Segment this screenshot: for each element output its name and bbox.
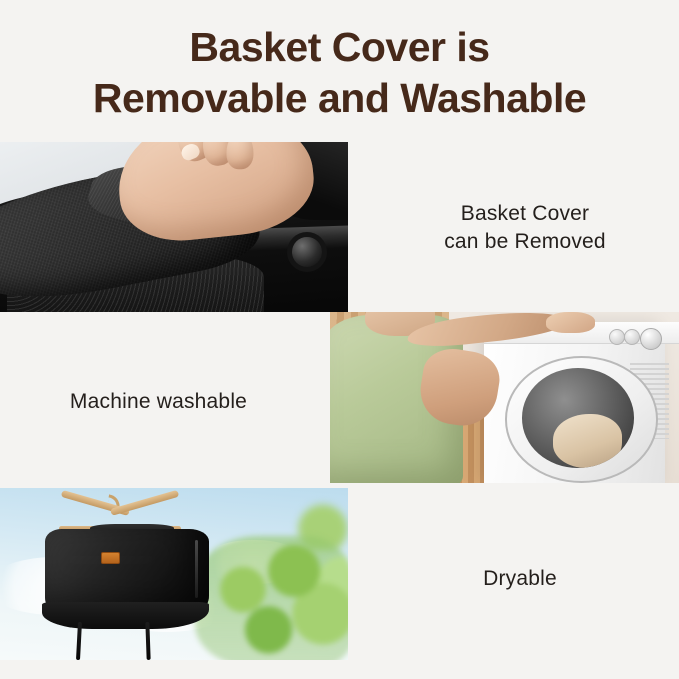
finger-ring [227,142,254,168]
person-hand-on-controls [546,312,595,333]
photo-basket-cover-removal [0,142,348,312]
leather-brand-label [101,552,120,564]
caption-basket-cover-removed: Basket Cover can be Removed [380,200,670,256]
cover-bottom-skirt [42,602,209,630]
control-knob-1 [609,329,625,345]
product-infographic: Basket Cover is Removable and Washable B… [0,0,679,679]
laundry-scene [330,312,679,483]
caption-removed-line-1: Basket Cover [380,200,670,228]
laundry-pile-light [553,414,622,468]
outdoor-scene [0,488,348,660]
cover-zipper [195,540,198,598]
caption-dryable: Dryable [400,565,640,593]
program-dial [640,328,662,350]
caption-machine-washable: Machine washable [16,388,301,416]
photo-machine-washing [330,312,679,483]
tree-foliage [195,536,348,660]
photo-drying-on-hanger [0,488,348,660]
velcro-scene [0,142,348,312]
control-knob-2 [624,329,640,345]
page-title: Basket Cover is Removable and Washable [0,22,679,124]
page-title-line-1: Basket Cover is [0,22,679,73]
page-title-line-2: Removable and Washable [0,73,679,124]
washer-door-glass [522,368,634,467]
caption-removed-line-2: can be Removed [380,228,670,256]
